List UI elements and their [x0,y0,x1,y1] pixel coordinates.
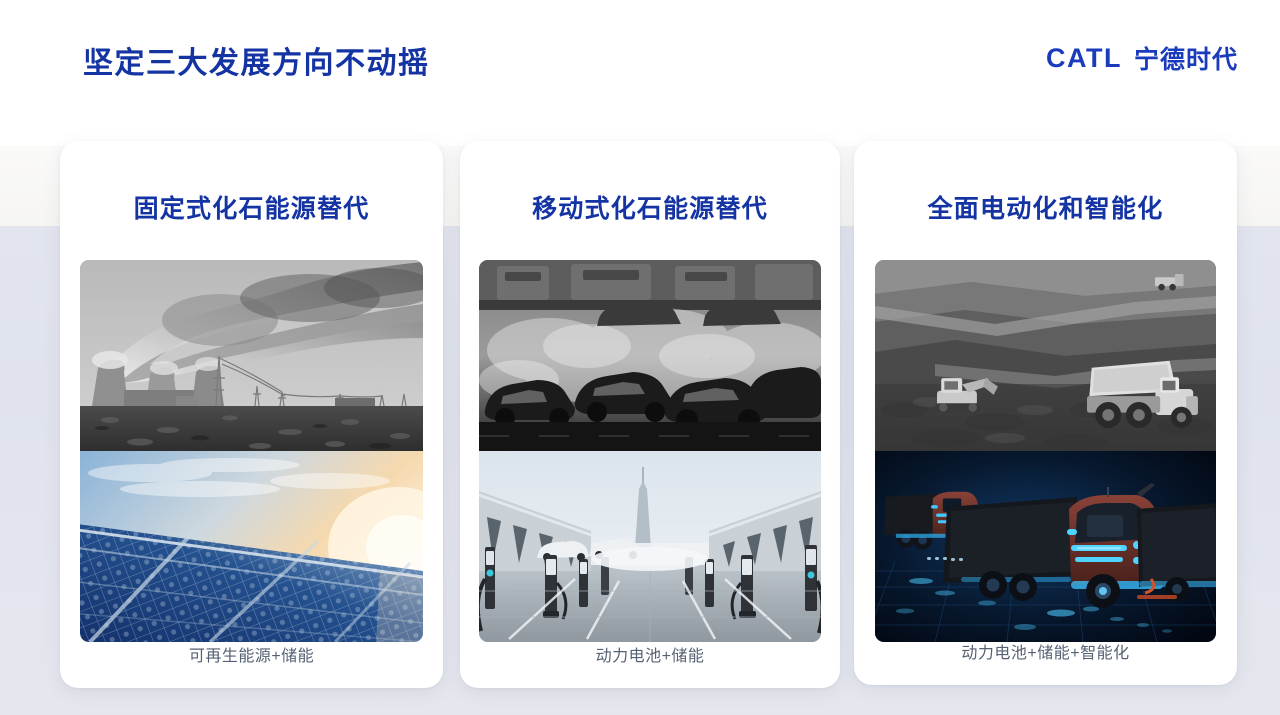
page-header: 坚定三大发展方向不动摇 CATL 宁德时代 [0,0,1280,118]
card-caption: 动力电池+储能+智能化 [854,639,1237,663]
card-title: 全面电动化和智能化 [854,189,1237,225]
card-caption: 动力电池+储能 [460,642,840,666]
image-traffic-exhaust [479,260,821,451]
image-coal-power-plant [80,260,423,451]
catl-logo: CATL 宁德时代 [1046,40,1238,76]
logo-chinese-name: 宁德时代 [1134,40,1238,76]
logo-wordmark: CATL [1046,43,1122,74]
image-open-pit-mine [875,260,1216,451]
image-solar-panels [80,451,423,642]
image-ev-charging-plaza [479,451,821,642]
card-fixed-fossil-replacement[interactable]: 固定式化石能源替代 [60,141,443,688]
card-caption: 可再生能源+储能 [60,642,443,666]
card-full-electrification[interactable]: 全面电动化和智能化 [854,141,1237,685]
card-title: 移动式化石能源替代 [460,189,840,225]
card-media [875,260,1216,642]
card-mobile-fossil-replacement[interactable]: 移动式化石能源替代 [460,141,840,688]
card-media [80,260,423,642]
image-electric-smart-trucks [875,451,1216,642]
card-media [479,260,821,642]
card-title: 固定式化石能源替代 [60,189,443,225]
page-title: 坚定三大发展方向不动摇 [83,38,430,82]
